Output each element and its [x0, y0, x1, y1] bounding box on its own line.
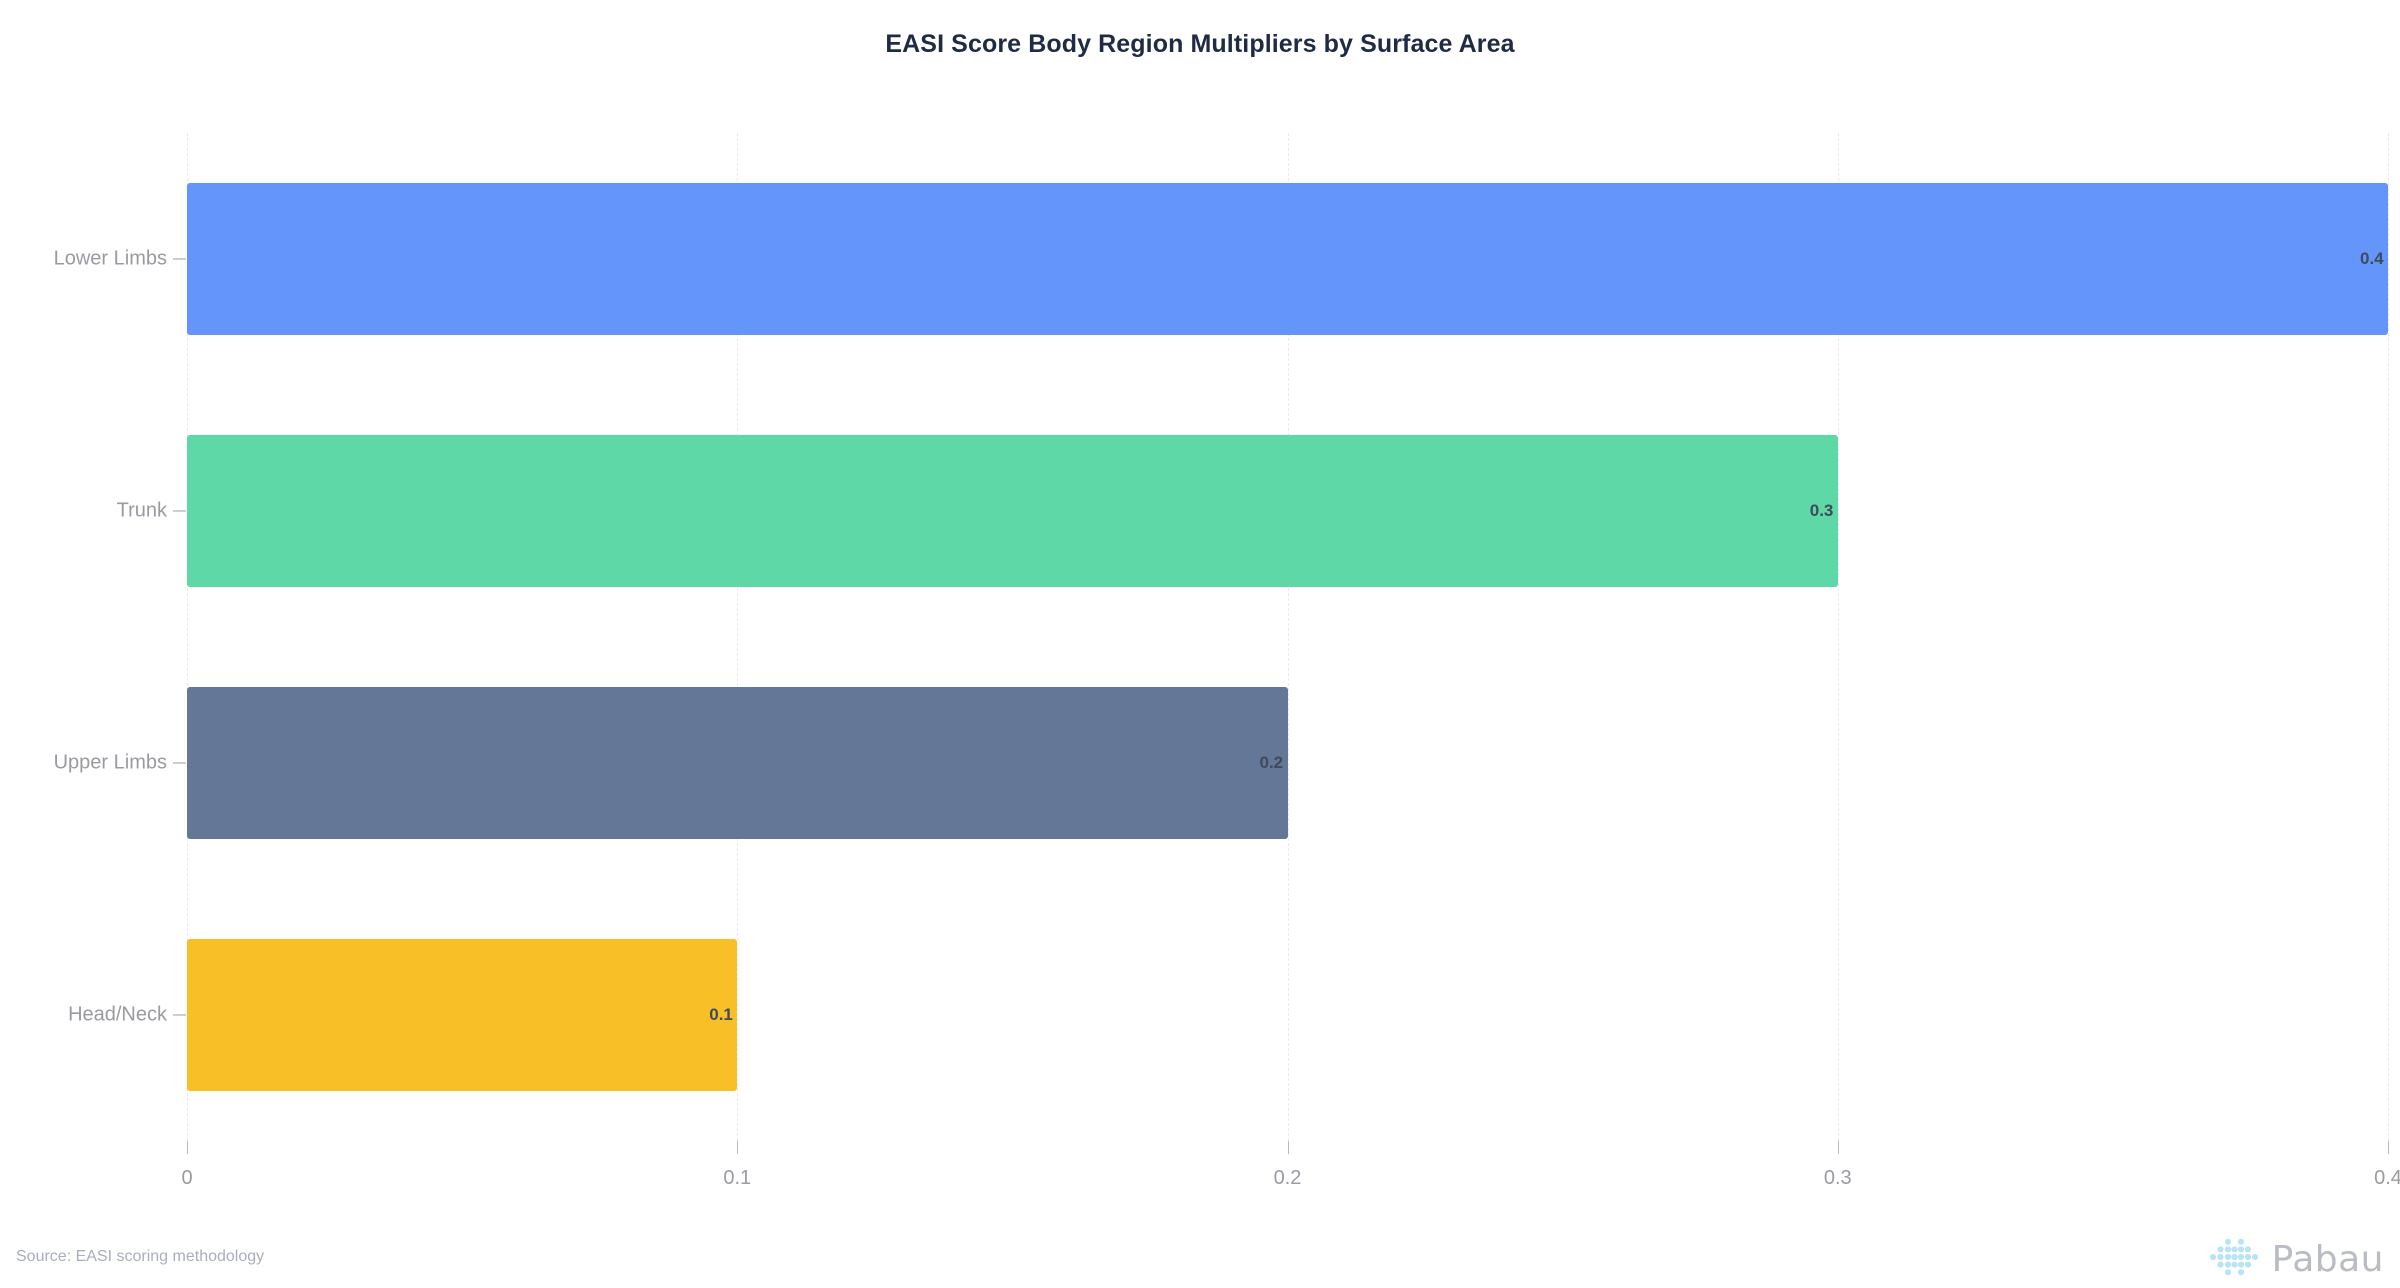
bar-value-label: 0.4 — [2360, 249, 2384, 269]
pabau-dots-icon — [2208, 1232, 2260, 1287]
bar-row[interactable]: 0.3 — [187, 435, 2388, 587]
bar-value-label: 0.2 — [1260, 753, 1284, 773]
x-axis-tick-label: 0.2 — [1274, 1167, 1302, 1190]
x-axis-tick-mark — [2388, 1141, 2389, 1154]
x-axis-tick-label: 0.1 — [723, 1167, 751, 1190]
x-axis-tick-mark — [1288, 1141, 1289, 1154]
page-title: EASI Score Body Region Multipliers by Su… — [0, 30, 2400, 59]
bar-row[interactable]: 0.1 — [187, 939, 2388, 1091]
bar-lower-limbs[interactable]: 0.4 — [187, 183, 2388, 335]
x-axis-tick-mark — [1838, 1141, 1839, 1154]
x-axis-tick-label: 0.3 — [1824, 1167, 1852, 1190]
bar-head-neck[interactable]: 0.1 — [187, 939, 737, 1091]
source-note: Source: EASI scoring methodology — [16, 1248, 264, 1266]
y-axis-tick-mark — [173, 511, 186, 512]
brand-logo: Pabau — [2208, 1232, 2384, 1287]
x-axis-tick-mark — [187, 1141, 188, 1154]
brand-wordmark: Pabau — [2272, 1239, 2384, 1280]
y-axis-tick-mark — [173, 1015, 186, 1016]
bar-value-label: 0.3 — [1810, 501, 1834, 521]
y-axis-tick-label: Head/Neck — [0, 1004, 167, 1027]
y-axis-tick-mark — [173, 259, 186, 260]
x-axis-tick-mark — [737, 1141, 738, 1154]
bar-row[interactable]: 0.2 — [187, 687, 2388, 839]
y-axis-tick-label: Trunk — [0, 500, 167, 523]
bar-upper-limbs[interactable]: 0.2 — [187, 687, 1288, 839]
bar-trunk[interactable]: 0.3 — [187, 435, 1838, 587]
x-axis-tick-label: 0 — [181, 1167, 192, 1190]
y-axis-tick-label: Lower Limbs — [0, 248, 167, 271]
bar-row[interactable]: 0.4 — [187, 183, 2388, 335]
x-axis-tick-label: 0.4 — [2374, 1167, 2400, 1190]
bar-value-label: 0.1 — [709, 1005, 733, 1025]
y-axis-tick-label: Upper Limbs — [0, 752, 167, 775]
gridline — [2388, 133, 2390, 1141]
chart-plot-area: 0.40.30.20.1 — [187, 133, 2388, 1141]
y-axis-tick-mark — [173, 763, 186, 764]
